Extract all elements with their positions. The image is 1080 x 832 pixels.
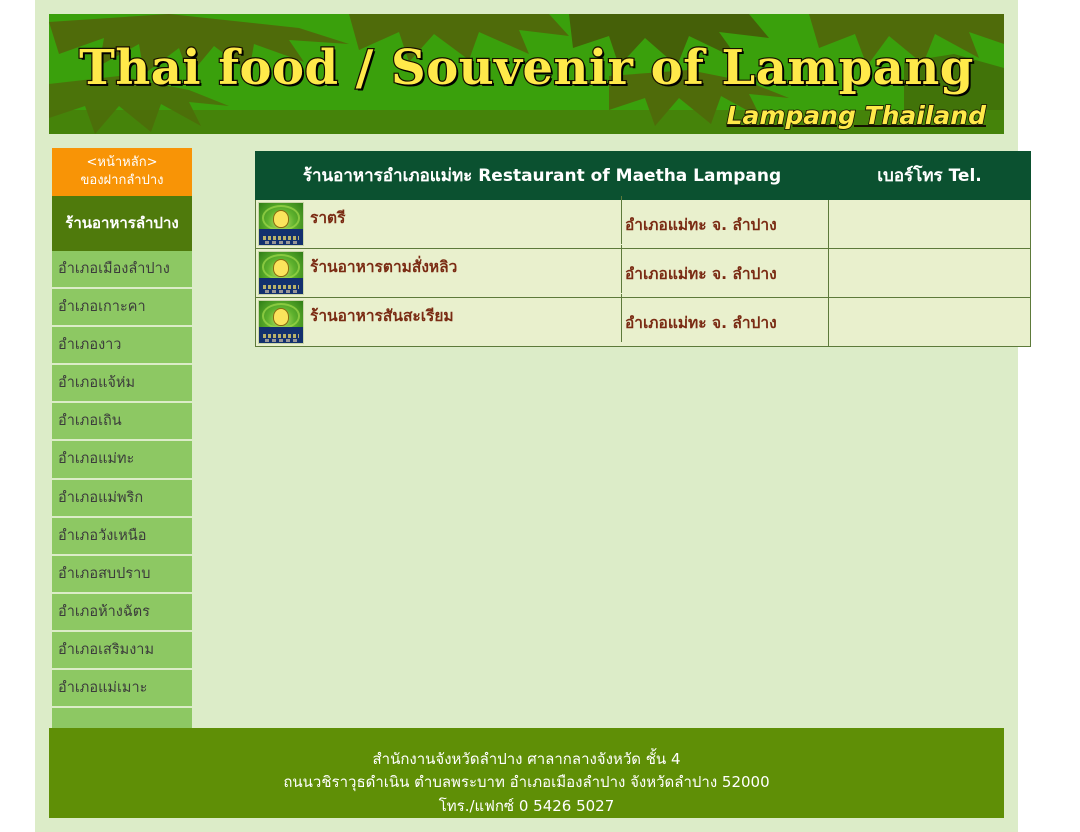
sidebar-item-mae-tha[interactable]: อำเภอแม่ทะ xyxy=(52,441,192,479)
footer-line-1: สำนักงานจังหวัดลำปาง ศาลากลางจังหวัด ชั้… xyxy=(49,748,1004,771)
column-header-restaurant: ร้านอาหารอำเภอแม่ทะ Restaurant of Maetha… xyxy=(256,152,829,200)
restaurant-table: ร้านอาหารอำเภอแม่ทะ Restaurant of Maetha… xyxy=(255,151,1031,347)
restaurant-logo-thumbnail-icon[interactable] xyxy=(258,202,304,246)
restaurant-entry: ร้านอาหารตามสั่งหลิว xyxy=(256,249,828,297)
sidebar-item-soem-ngam[interactable]: อำเภอเสริมงาม xyxy=(52,632,192,670)
thumb-text-line-2 xyxy=(265,290,297,293)
sidebar-nav: <หน้าหลัก> ของฝากลำปาง ร้านอาหารลำปาง อำ… xyxy=(52,148,192,770)
restaurant-table-area: ร้านอาหารอำเภอแม่ทะ Restaurant of Maetha… xyxy=(255,151,1030,347)
sidebar-item-home-line1: <หน้าหลัก> xyxy=(87,155,158,170)
table-row: ร้านอาหารตามสั่งหลิว xyxy=(256,249,1031,298)
site-footer: สำนักงานจังหวัดลำปาง ศาลากลางจังหวัด ชั้… xyxy=(49,728,1004,818)
sidebar-item-restaurants-lampang[interactable]: ร้านอาหารลำปาง xyxy=(52,196,192,251)
sidebar-item-ngao[interactable]: อำเภองาว xyxy=(52,327,192,365)
restaurant-logo-thumbnail-icon[interactable] xyxy=(258,251,304,295)
sidebar-item-wang-nuea[interactable]: อำเภอวังเหนือ xyxy=(52,518,192,556)
footer-line-2: ถนนวชิราวุธดำเนิน ตำบลพระบาท อำเภอเมืองล… xyxy=(49,771,1004,794)
sidebar-item-mae-phrik[interactable]: อำเภอแม่พริก xyxy=(52,480,192,518)
sidebar-item-label: อำเภอห้างฉัตร xyxy=(58,604,150,620)
sidebar-item-label: อำเภอเกาะคา xyxy=(58,299,146,315)
sidebar-item-home-line2: ของฝากลำปาง xyxy=(52,172,192,190)
sidebar-item-mae-moh[interactable]: อำเภอแม่เมาะ xyxy=(52,670,192,708)
sidebar-item-hang-chat[interactable]: อำเภอห้างฉัตร xyxy=(52,594,192,632)
sidebar-item-chae-hom[interactable]: อำเภอแจ้ห่ม xyxy=(52,365,192,403)
restaurant-entry: ร้านอาหารสันสะเรียม xyxy=(256,298,828,346)
banner-subtitle-wrap: Lampang Thailand xyxy=(727,101,986,130)
thumb-face xyxy=(274,309,289,326)
column-header-tel: เบอร์โทร Tel. xyxy=(829,152,1031,200)
table-header-row: ร้านอาหารอำเภอแม่ทะ Restaurant of Maetha… xyxy=(256,152,1031,200)
cell-restaurant: ร้านอาหารตามสั่งหลิว xyxy=(256,249,829,298)
cell-tel xyxy=(829,298,1031,347)
banner-title-wrap: Thai food / Souvenir of Lampang xyxy=(49,40,1004,96)
restaurant-logo-thumbnail-icon[interactable] xyxy=(258,300,304,344)
sidebar-item-label: อำเภอเมืองลำปาง xyxy=(58,261,170,277)
sidebar-item-ko-kha[interactable]: อำเภอเกาะคา xyxy=(52,289,192,327)
thumb-face xyxy=(274,260,289,277)
thumb-face xyxy=(274,211,289,228)
footer-line-3: โทร./แฟกซ์ 0 5426 5027 xyxy=(49,795,1004,818)
cell-restaurant: ร้านอาหารสันสะเรียม xyxy=(256,298,829,347)
sidebar-item-label: อำเภอแม่ทะ xyxy=(58,451,134,467)
table-row: ราตรี xyxy=(256,200,1031,249)
sidebar-item-label: ร้านอาหารลำปาง xyxy=(65,214,178,232)
sidebar-item-home[interactable]: <หน้าหลัก> ของฝากลำปาง xyxy=(52,148,192,196)
cell-tel xyxy=(829,249,1031,298)
table-body: ราตรี xyxy=(256,200,1031,347)
thumb-text-line-2 xyxy=(265,339,297,342)
table-head: ร้านอาหารอำเภอแม่ทะ Restaurant of Maetha… xyxy=(256,152,1031,200)
restaurant-name-link[interactable]: ร้านอาหารตามสั่งหลิว xyxy=(310,249,828,297)
sidebar-item-label: อำเภองาว xyxy=(58,337,121,353)
page-container: Thai food / Souvenir of Lampang Lampang … xyxy=(35,0,1018,832)
thumb-text-line-1 xyxy=(263,334,300,338)
sidebar-item-label: อำเภอแม่เมาะ xyxy=(58,680,147,696)
restaurant-entry: ราตรี xyxy=(256,200,828,248)
cell-restaurant: ราตรี xyxy=(256,200,829,249)
sidebar-item-mueang-lampang[interactable]: อำเภอเมืองลำปาง xyxy=(52,251,192,289)
sidebar-item-label: อำเภอเสริมงาม xyxy=(58,642,154,658)
thumb-text-line-1 xyxy=(263,236,300,240)
sidebar-item-sop-prap[interactable]: อำเภอสบปราบ xyxy=(52,556,192,594)
banner-title: Thai food / Souvenir of Lampang xyxy=(79,40,974,96)
restaurant-name-link[interactable]: ราตรี xyxy=(310,200,828,248)
sidebar-item-label: อำเภอวังเหนือ xyxy=(58,528,146,544)
sidebar-item-label: อำเภอแม่พริก xyxy=(58,490,143,506)
thumb-text-line-2 xyxy=(265,241,297,244)
sidebar-item-thoen[interactable]: อำเภอเถิน xyxy=(52,403,192,441)
thumb-text-line-1 xyxy=(263,285,300,289)
restaurant-name-link[interactable]: ร้านอาหารสันสะเรียม xyxy=(310,298,828,346)
table-row: ร้านอาหารสันสะเรียม xyxy=(256,298,1031,347)
sidebar-item-label: อำเภอสบปราบ xyxy=(58,566,150,582)
site-banner: Thai food / Souvenir of Lampang Lampang … xyxy=(49,14,1004,134)
banner-subtitle: Lampang Thailand xyxy=(727,101,986,130)
cell-tel xyxy=(829,200,1031,249)
sidebar-item-label: อำเภอเถิน xyxy=(58,413,122,429)
sidebar-item-label: อำเภอแจ้ห่ม xyxy=(58,375,135,391)
